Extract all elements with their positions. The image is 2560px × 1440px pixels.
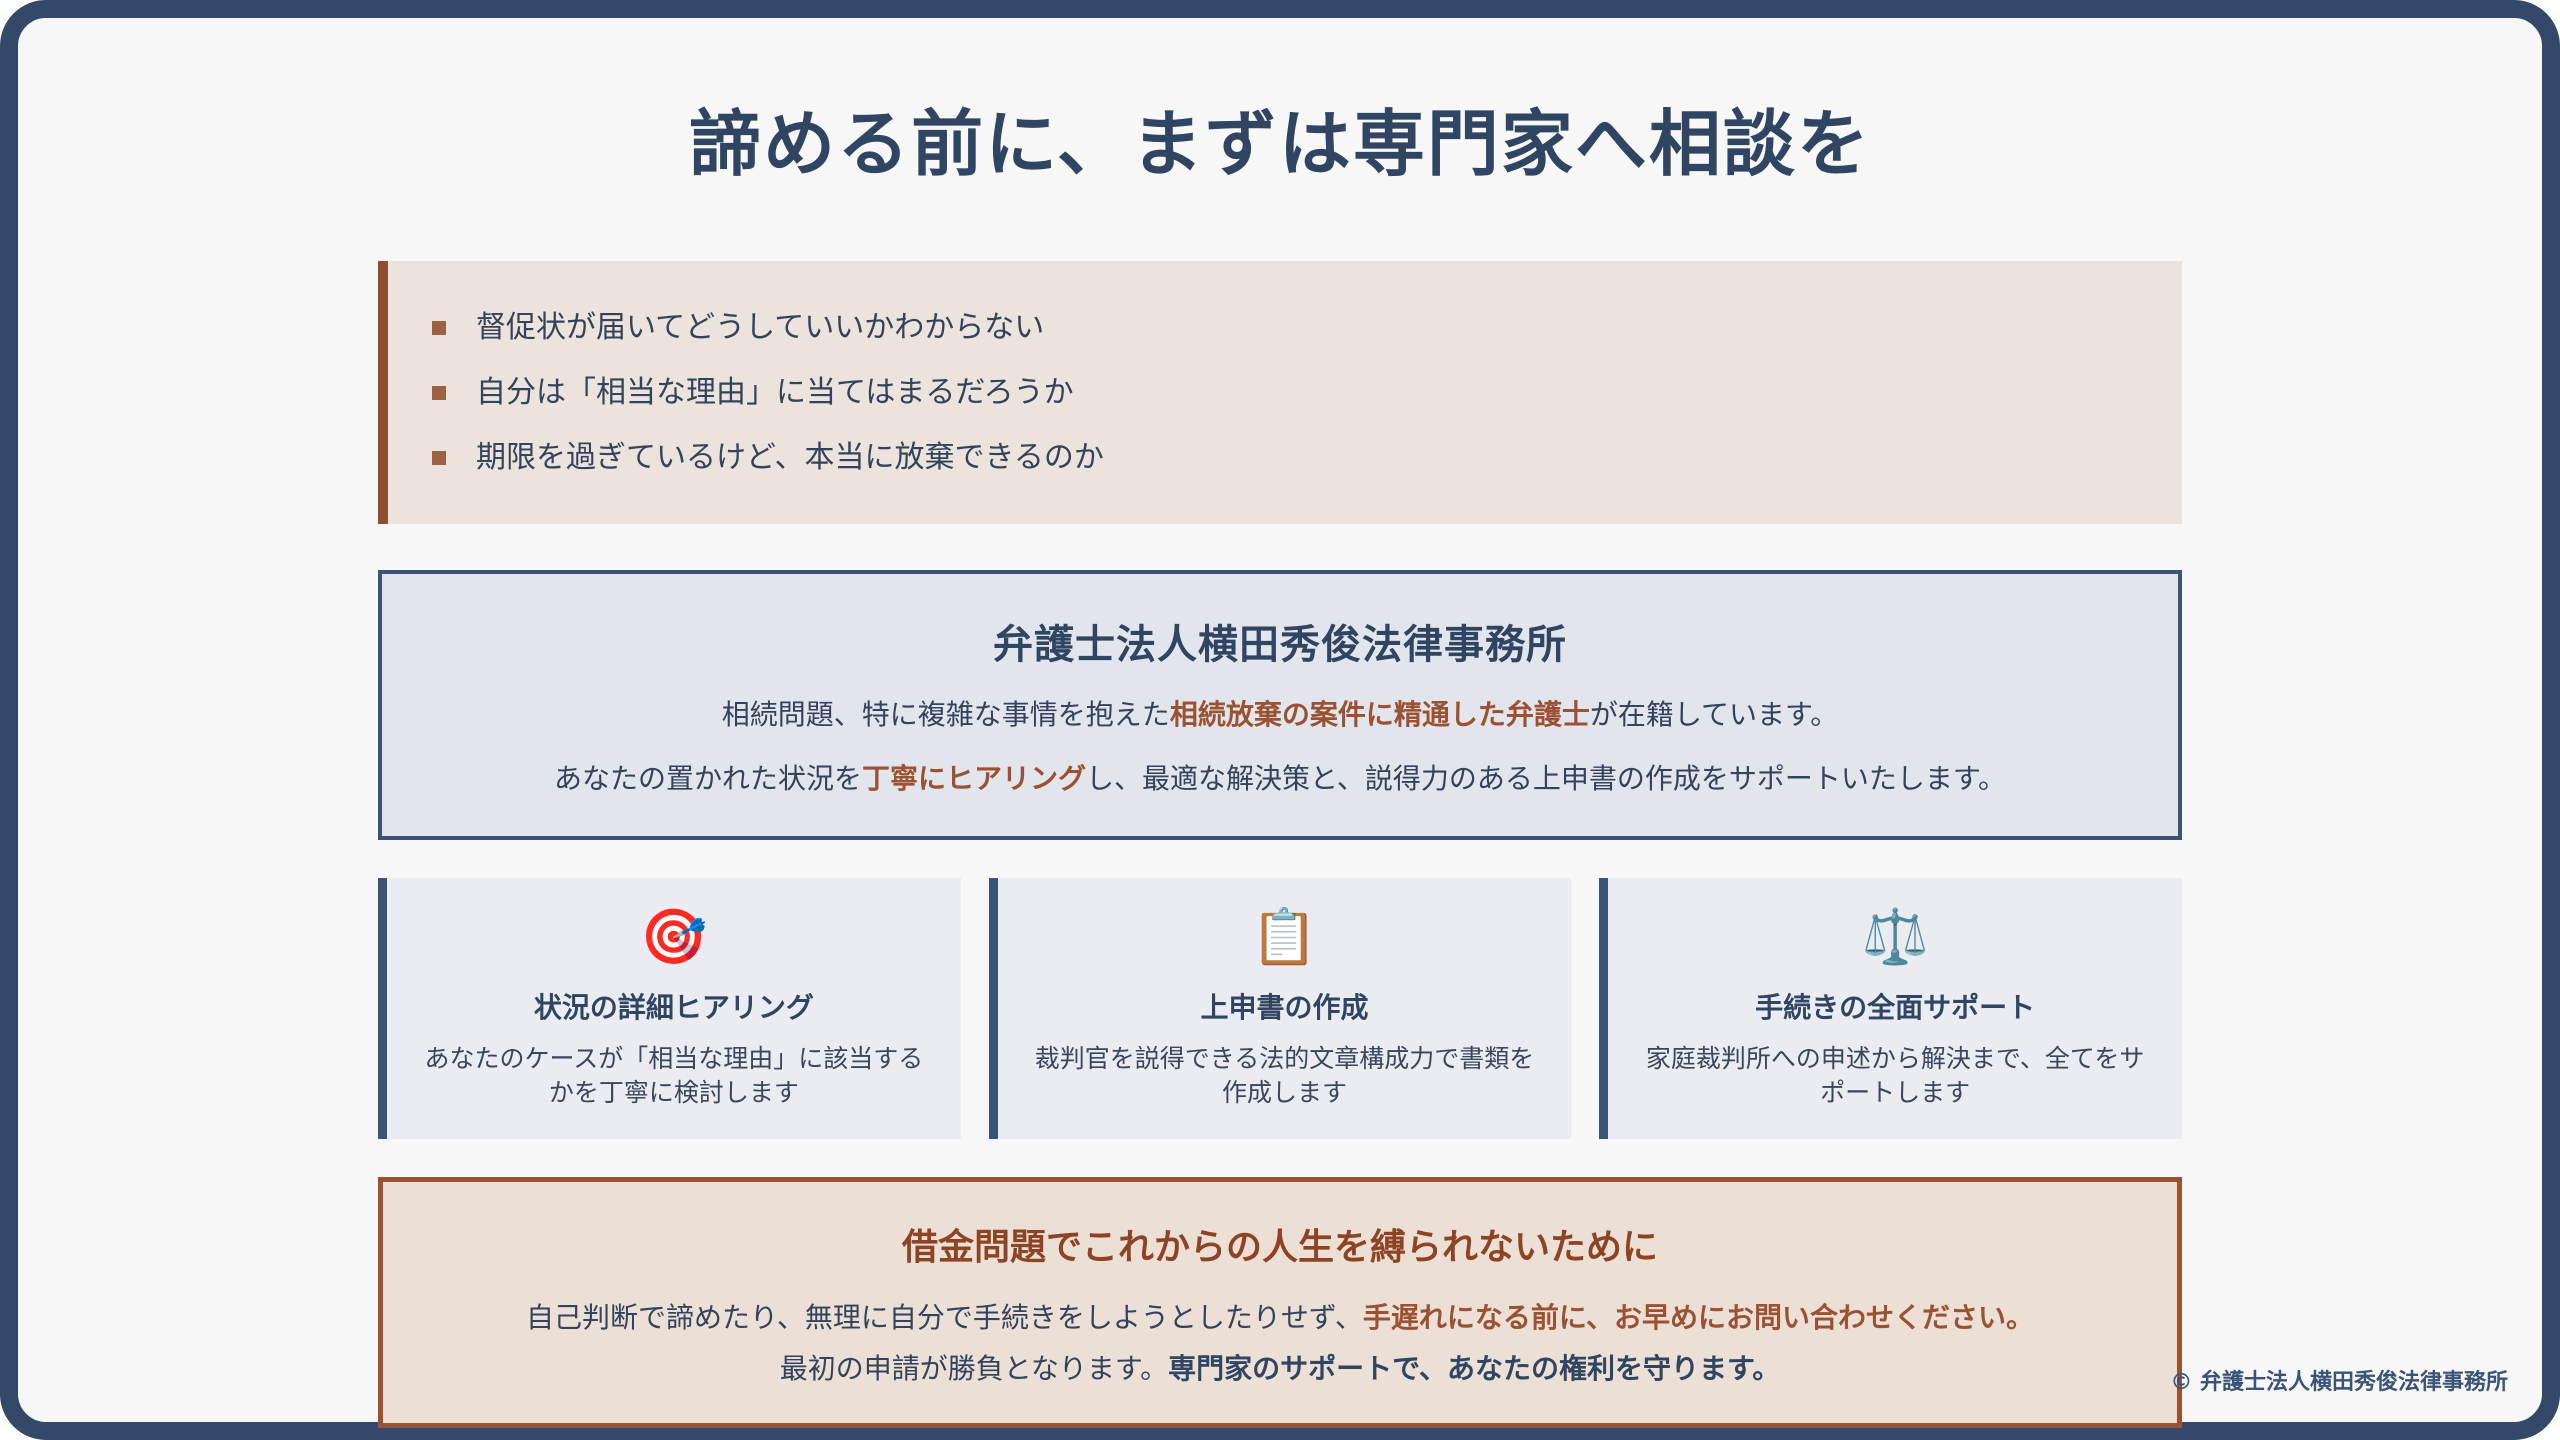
balance-scale-icon: ⚖️ xyxy=(1634,910,2156,964)
slide-frame: 諦める前に、まずは専門家へ相談を 督促状が届いてどうしていいかわからない 自分は… xyxy=(0,0,2560,1440)
cta-line-2: 最初の申請が勝負となります。専門家のサポートで、あなたの権利を守ります。 xyxy=(413,1349,2147,1388)
service-card-document: 📋 上申書の作成 裁判官を説得できる法的文章構成力で書類を作成します xyxy=(989,878,1572,1140)
content-column: 督促状が届いてどうしていいかわからない 自分は「相当な理由」に当てはまるだろうか… xyxy=(378,261,2182,1427)
concern-text: 自分は「相当な理由」に当てはまるだろうか xyxy=(476,373,1074,412)
firm-line2-pre: あなたの置かれた状況を xyxy=(554,762,862,795)
cta-line1-highlight: 手遅れになる前に、お早めにお問い合わせください。 xyxy=(1363,1301,2034,1334)
service-card-title: 手続きの全面サポート xyxy=(1634,986,2156,1026)
service-card-description: あなたのケースが「相当な理由」に該当するかを丁寧に検討します xyxy=(413,1042,935,1110)
list-item: 督促状が届いてどうしていいかわからない xyxy=(432,295,2142,360)
service-card-title: 上申書の作成 xyxy=(1024,986,1546,1026)
concern-text: 期限を過ぎているけど、本当に放棄できるのか xyxy=(476,438,1104,477)
service-card-support: ⚖️ 手続きの全面サポート 家庭裁判所への申述から解決まで、全てをサポートします xyxy=(1599,878,2182,1140)
concern-text: 督促状が届いてどうしていいかわからない xyxy=(476,308,1044,347)
target-dart-icon: 🎯 xyxy=(413,910,935,964)
firm-line1-highlight: 相続放棄の案件に精通した弁護士 xyxy=(1170,698,1590,731)
service-card-hearing: 🎯 状況の詳細ヒアリング あなたのケースが「相当な理由」に該当するかを丁寧に検討… xyxy=(378,878,961,1140)
copyright-notice: © 弁護士法人横田秀俊法律事務所 xyxy=(2170,1364,2508,1396)
firm-line2-post: し、最適な解決策と、説得力のある上申書の作成をサポートいたします。 xyxy=(1086,762,2006,795)
firm-info-box: 弁護士法人横田秀俊法律事務所 相続問題、特に複雑な事情を抱えた相続放棄の案件に精… xyxy=(378,570,2182,840)
list-item: 自分は「相当な理由」に当てはまるだろうか xyxy=(432,360,2142,425)
firm-description-line-1: 相続問題、特に複雑な事情を抱えた相続放棄の案件に精通した弁護士が在籍しています。 xyxy=(416,696,2144,734)
firm-line2-highlight: 丁寧にヒアリング xyxy=(862,762,1086,795)
firm-description-line-2: あなたの置かれた状況を丁寧にヒアリングし、最適な解決策と、説得力のある上申書の作… xyxy=(416,760,2144,798)
bullet-square-icon xyxy=(432,451,446,465)
clipboard-icon: 📋 xyxy=(1024,910,1546,964)
service-card-description: 裁判官を説得できる法的文章構成力で書類を作成します xyxy=(1024,1042,1546,1110)
cta-heading: 借金問題でこれからの人生を縛られないために xyxy=(413,1218,2147,1270)
firm-line1-post: が在籍しています。 xyxy=(1590,698,1838,731)
firm-name: 弁護士法人横田秀俊法律事務所 xyxy=(416,612,2144,670)
list-item: 期限を過ぎているけど、本当に放棄できるのか xyxy=(432,425,2142,490)
cta-box: 借金問題でこれからの人生を縛られないために 自己判断で諦めたり、無理に自分で手続… xyxy=(378,1177,2182,1427)
concerns-box: 督促状が届いてどうしていいかわからない 自分は「相当な理由」に当てはまるだろうか… xyxy=(378,261,2182,524)
firm-line1-pre: 相続問題、特に複雑な事情を抱えた xyxy=(722,698,1170,731)
page-title: 諦める前に、まずは専門家へ相談を xyxy=(18,18,2542,185)
cta-line-1: 自己判断で諦めたり、無理に自分で手続きをしようとしたりせず、手遅れになる前に、お… xyxy=(413,1298,2147,1337)
bullet-square-icon xyxy=(432,321,446,335)
cta-line2-highlight: 専門家のサポートで、あなたの権利を守ります。 xyxy=(1168,1352,1780,1385)
bullet-square-icon xyxy=(432,386,446,400)
service-card-description: 家庭裁判所への申述から解決まで、全てをサポートします xyxy=(1634,1042,2156,1110)
slide-inner: 諦める前に、まずは専門家へ相談を 督促状が届いてどうしていいかわからない 自分は… xyxy=(18,18,2542,1422)
cta-line1-pre: 自己判断で諦めたり、無理に自分で手続きをしようとしたりせず、 xyxy=(526,1301,1363,1334)
cta-line2-pre: 最初の申請が勝負となります。 xyxy=(780,1352,1168,1385)
service-cards-row: 🎯 状況の詳細ヒアリング あなたのケースが「相当な理由」に該当するかを丁寧に検討… xyxy=(378,878,2182,1140)
service-card-title: 状況の詳細ヒアリング xyxy=(413,986,935,1026)
